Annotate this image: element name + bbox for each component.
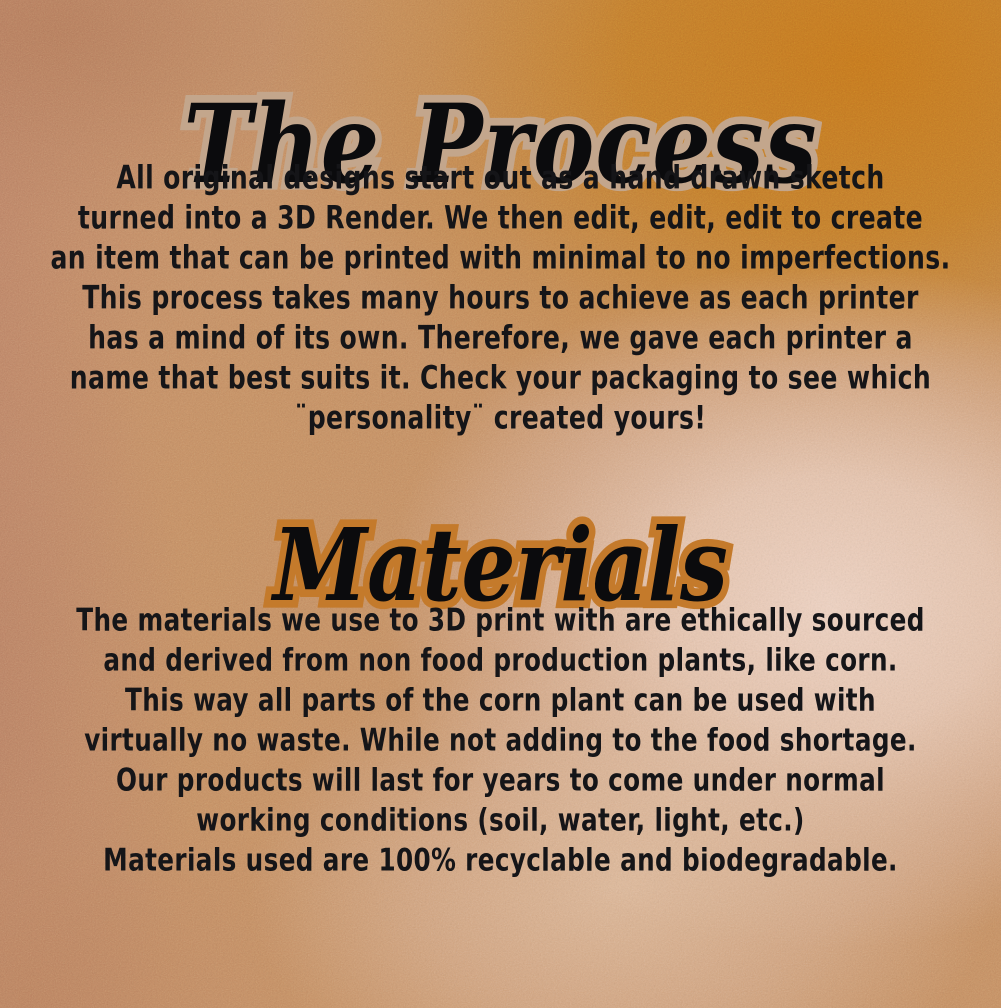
text-line: working conditions (soil, water, light, … [35,799,966,841]
poster-content: The Process All original designs start o… [0,0,1001,1008]
text-line: The materials we use to 3D print with ar… [35,599,966,641]
text-line: virtually no waste. While not adding to … [35,719,966,761]
poster-canvas: The Process All original designs start o… [0,0,1001,1008]
text-line: ¨personality¨ created yours! [35,398,966,440]
text-line: Materials used are 100% recyclable and b… [35,839,966,881]
text-line: All original designs start out as a hand… [35,158,966,200]
paragraph-materials: The materials we use to 3D print with ar… [0,600,1001,880]
text-line: name that best suits it. Check your pack… [35,358,966,400]
text-line: This way all parts of the corn plant can… [35,679,966,721]
text-line: and derived from non food production pla… [35,639,966,681]
text-line: Our products will last for years to come… [35,759,966,801]
text-line: This process takes many hours to achieve… [35,278,966,320]
text-line: an item that can be printed with minimal… [35,238,966,280]
text-line: has a mind of its own. Therefore, we gav… [35,318,966,360]
paragraph-the-process: All original designs start out as a hand… [0,159,1001,439]
text-line: turned into a 3D Render. We then edit, e… [35,198,966,240]
